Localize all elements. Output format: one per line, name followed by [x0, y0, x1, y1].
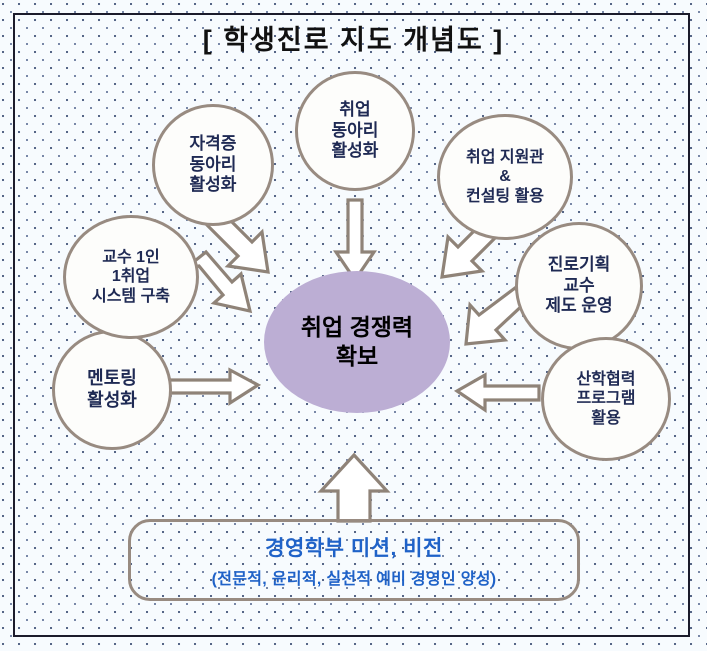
node-industry-program[interactable]: 산학협력 프로그램 활용 — [541, 337, 671, 461]
node-certification-club[interactable]: 자격증 동아리 활성화 — [152, 104, 274, 226]
mission-vision-box[interactable]: 경영학부 미션, 비전 (전문적, 윤리적, 실천적 예비 경영인 양성) — [128, 519, 580, 601]
node-mentoring[interactable]: 멘토링 활성화 — [52, 330, 172, 450]
diagram-canvas: [ 학생진로 지도 개념도 ] — [0, 0, 707, 651]
arrow-employment-club — [336, 200, 374, 280]
arrow-mission-to-center — [321, 455, 387, 521]
center-node-employment-competitiveness[interactable]: 취업 경쟁력 확보 — [264, 271, 450, 413]
mission-title: 경영학부 미션, 비전 — [265, 532, 443, 562]
node-one-professor-one-job[interactable]: 교수 1인 1취업 시스템 구축 — [63, 215, 199, 339]
node-employment-club[interactable]: 취업 동아리 활성화 — [295, 71, 415, 191]
node-career-center[interactable]: 취업 지원관 & 컨설팅 활용 — [437, 114, 573, 240]
arrow-mentoring — [165, 370, 258, 403]
mission-subtitle: (전문적, 윤리적, 실천적 예비 경영인 양성) — [212, 565, 497, 589]
arrow-industry-program — [457, 375, 539, 410]
node-career-professor[interactable]: 진로기획 교수 제도 운영 — [515, 222, 643, 350]
